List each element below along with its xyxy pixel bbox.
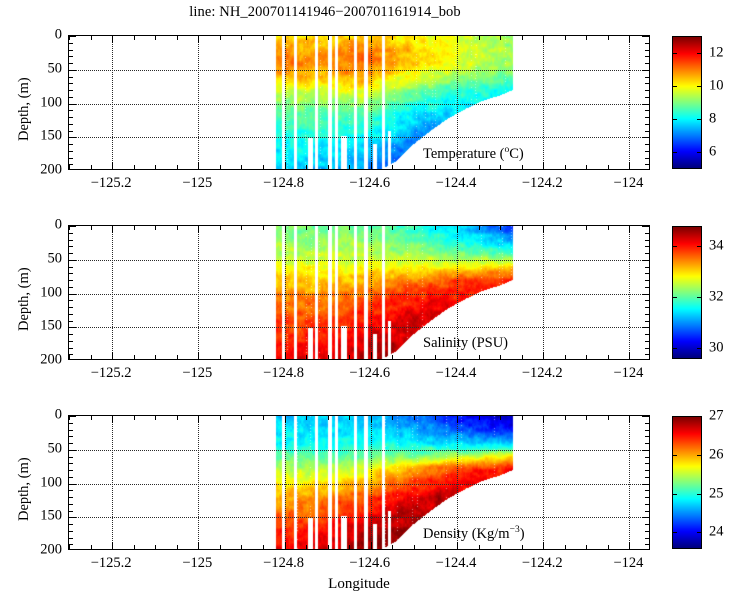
x-tick (392, 416, 393, 420)
x-tick (435, 165, 436, 169)
x-gridline (543, 226, 544, 359)
colorbar-temperature (672, 36, 702, 169)
x-tick-label: −125 (182, 365, 212, 382)
x-tick (349, 545, 350, 549)
x-gridline (371, 36, 372, 169)
x-tick (435, 416, 436, 420)
x-gridline (198, 226, 199, 359)
x-tick (69, 165, 70, 169)
x-tick (241, 165, 242, 169)
x-gridline (371, 416, 372, 549)
x-tick (328, 545, 329, 549)
y-tick (69, 436, 73, 437)
x-tick (198, 226, 199, 233)
x-tick (306, 545, 307, 549)
x-tick (565, 355, 566, 359)
y-tick (645, 457, 649, 458)
y-tick (645, 300, 649, 301)
y-tick (69, 137, 76, 138)
y-tick-label: 200 (14, 162, 62, 179)
y-tick (645, 538, 649, 539)
x-tick (543, 36, 544, 43)
x-tick (414, 355, 415, 359)
oceanographic-transect-figure: line: NH_200701141946−200701161914_bob T… (0, 0, 750, 605)
x-tick (306, 36, 307, 40)
x-tick (69, 355, 70, 359)
y-tick (69, 273, 73, 274)
x-tick (586, 226, 587, 230)
x-tick (629, 542, 630, 549)
y-tick (69, 144, 73, 145)
y-tick (642, 260, 649, 261)
y-tick (69, 56, 73, 57)
x-tick (177, 36, 178, 40)
plot-frame-temperature (68, 35, 650, 170)
x-tick-label: −124.6 (349, 365, 390, 382)
y-tick (69, 226, 76, 227)
y-tick-label: 50 (14, 250, 62, 267)
y-axis-label: Depth, (m) (16, 457, 33, 521)
x-gridline (543, 416, 544, 549)
x-tick (414, 545, 415, 549)
x-tick-label: −124.4 (436, 365, 477, 382)
y-tick (642, 450, 649, 451)
y-tick (69, 90, 73, 91)
y-tick (69, 260, 76, 261)
x-tick (586, 416, 587, 420)
y-tick (69, 70, 76, 71)
y-tick (645, 334, 649, 335)
y-tick (645, 124, 649, 125)
panel-salinity: Salinity (PSU) (68, 225, 650, 360)
x-tick (522, 226, 523, 230)
colorbar-tick (672, 494, 677, 495)
y-tick (69, 267, 73, 268)
y-axis-label: Depth, (m) (16, 267, 33, 331)
x-tick (435, 36, 436, 40)
x-tick (328, 416, 329, 420)
colorbar-tick-label: 8 (709, 110, 716, 127)
colorbar-tick (672, 86, 677, 87)
colorbar-tick (672, 455, 677, 456)
x-tick (241, 355, 242, 359)
colorbar-tick (672, 246, 677, 247)
x-tick (629, 162, 630, 169)
x-gridline (198, 416, 199, 549)
x-tick (134, 355, 135, 359)
y-tick-label: 200 (14, 542, 62, 559)
y-tick (69, 341, 73, 342)
y-tick (645, 287, 649, 288)
x-tick (263, 226, 264, 230)
panel-annotation-temperature: Temperature (oC) (423, 145, 524, 163)
y-tick (645, 490, 649, 491)
y-tick (69, 124, 73, 125)
x-tick-label: −125 (182, 175, 212, 192)
y-gridline (69, 104, 649, 105)
y-tick (69, 110, 73, 111)
x-tick (522, 545, 523, 549)
x-tick (241, 226, 242, 230)
colorbar-tick (697, 246, 702, 247)
y-tick (645, 273, 649, 274)
y-tick (645, 77, 649, 78)
x-tick (91, 355, 92, 359)
y-tick (69, 457, 73, 458)
x-tick (285, 416, 286, 423)
x-tick (522, 416, 523, 420)
y-tick (645, 511, 649, 512)
y-tick (69, 164, 73, 165)
y-tick (645, 233, 649, 234)
x-tick (263, 416, 264, 420)
x-tick (392, 226, 393, 230)
plot-frame-density (68, 415, 650, 550)
y-tick (69, 314, 73, 315)
y-tick-label: 0 (14, 27, 62, 44)
x-tick (177, 165, 178, 169)
x-tick (629, 352, 630, 359)
x-tick-label: −124.8 (263, 365, 304, 382)
y-tick (645, 314, 649, 315)
y-tick (69, 151, 73, 152)
y-tick (69, 246, 73, 247)
x-tick (134, 165, 135, 169)
y-tick (69, 531, 73, 532)
x-tick (177, 416, 178, 420)
y-tick (645, 470, 649, 471)
x-tick (479, 545, 480, 549)
x-tick (349, 355, 350, 359)
y-tick (645, 50, 649, 51)
x-tick (371, 542, 372, 549)
y-tick (645, 131, 649, 132)
y-tick (645, 240, 649, 241)
x-tick (155, 226, 156, 230)
x-tick (285, 352, 286, 359)
x-gridline (543, 36, 544, 169)
y-tick (645, 524, 649, 525)
panel-temperature: Temperature (oC) (68, 35, 650, 170)
x-tick (371, 352, 372, 359)
y-tick (69, 470, 73, 471)
y-tick-label: 50 (14, 60, 62, 77)
x-tick (134, 226, 135, 230)
y-gridline (69, 517, 649, 518)
x-tick (241, 416, 242, 420)
y-tick (645, 267, 649, 268)
colorbar-tick (697, 348, 702, 349)
y-gridline (69, 450, 649, 451)
x-tick (479, 355, 480, 359)
x-tick (112, 416, 113, 423)
y-tick (645, 321, 649, 322)
x-tick (543, 542, 544, 549)
x-tick (414, 165, 415, 169)
x-tick (306, 355, 307, 359)
x-tick (91, 226, 92, 230)
colorbar-tick-label: 6 (709, 143, 716, 160)
y-tick (69, 430, 73, 431)
x-tick-label: −124.8 (263, 555, 304, 572)
x-tick (306, 416, 307, 420)
x-tick (263, 165, 264, 169)
x-tick (177, 355, 178, 359)
y-tick (645, 544, 649, 545)
x-tick (263, 545, 264, 549)
colorbar-tick (672, 348, 677, 349)
x-tick (392, 545, 393, 549)
colorbar-tick (697, 119, 702, 120)
colorbar-tick (697, 416, 702, 417)
x-tick (134, 416, 135, 420)
y-tick (642, 104, 649, 105)
x-tick (328, 36, 329, 40)
x-tick-label: −124 (613, 365, 643, 382)
x-tick (414, 226, 415, 230)
x-tick (112, 542, 113, 549)
y-tick (69, 484, 76, 485)
y-tick (645, 63, 649, 64)
x-tick (198, 416, 199, 423)
annotation-superscript: −3 (510, 525, 520, 535)
x-tick (457, 36, 458, 43)
x-tick-label: −125.2 (91, 555, 132, 572)
x-tick (112, 36, 113, 43)
x-tick-label: −124.4 (436, 175, 477, 192)
y-tick (69, 280, 73, 281)
y-tick (69, 477, 73, 478)
x-tick (522, 36, 523, 40)
y-tick (69, 327, 76, 328)
x-tick (285, 542, 286, 549)
x-tick (177, 545, 178, 549)
x-tick (220, 355, 221, 359)
x-gridline (112, 226, 113, 359)
colorbar-tick-label: 10 (709, 77, 724, 94)
x-tick (155, 165, 156, 169)
y-tick (645, 164, 649, 165)
x-tick (457, 416, 458, 423)
x-tick (565, 165, 566, 169)
x-gridline (112, 416, 113, 549)
x-tick-label: −124.2 (522, 555, 563, 572)
x-tick (457, 542, 458, 549)
colorbar-tick-label: 30 (709, 339, 724, 356)
x-tick (241, 36, 242, 40)
y-tick (645, 246, 649, 247)
x-tick (371, 162, 372, 169)
y-tick (69, 416, 76, 417)
colorbar-tick (697, 494, 702, 495)
y-tick-label: 200 (14, 352, 62, 369)
y-tick (645, 280, 649, 281)
x-tick (565, 416, 566, 420)
y-tick (645, 354, 649, 355)
y-tick (69, 300, 73, 301)
x-tick (241, 545, 242, 549)
x-tick (112, 162, 113, 169)
figure-title: line: NH_200701141946−200701161914_bob (0, 4, 650, 21)
y-tick (69, 524, 73, 525)
x-tick (198, 352, 199, 359)
x-tick (608, 355, 609, 359)
colorbar-tick-label: 27 (709, 408, 724, 425)
x-gridline (198, 36, 199, 169)
y-tick (69, 240, 73, 241)
x-tick (349, 226, 350, 230)
x-tick (479, 165, 480, 169)
x-tick (608, 36, 609, 40)
x-tick (457, 226, 458, 233)
x-tick (112, 352, 113, 359)
x-tick (629, 226, 630, 233)
x-gridline (629, 416, 630, 549)
x-tick (69, 545, 70, 549)
x-tick (392, 165, 393, 169)
y-tick (645, 341, 649, 342)
y-tick (69, 287, 73, 288)
x-tick (198, 542, 199, 549)
x-tick (479, 36, 480, 40)
x-tick (500, 36, 501, 40)
y-tick (69, 83, 73, 84)
y-tick (69, 443, 73, 444)
y-tick (645, 423, 649, 424)
x-tick (328, 355, 329, 359)
x-tick (328, 165, 329, 169)
y-tick (645, 117, 649, 118)
colorbar-tick (672, 532, 677, 533)
x-tick (608, 226, 609, 230)
y-tick-label: 50 (14, 440, 62, 457)
x-tick (220, 545, 221, 549)
y-tick (69, 104, 76, 105)
x-tick (91, 165, 92, 169)
colorbar-tick-label: 25 (709, 485, 724, 502)
x-tick (500, 226, 501, 230)
x-tick (220, 226, 221, 230)
colorbar-density (672, 416, 702, 549)
x-tick (479, 416, 480, 420)
x-tick (500, 355, 501, 359)
y-tick (642, 484, 649, 485)
x-tick (155, 416, 156, 420)
x-gridline (371, 226, 372, 359)
y-tick (645, 307, 649, 308)
y-tick (645, 430, 649, 431)
x-tick (285, 36, 286, 43)
x-tick-label: −125.2 (91, 365, 132, 382)
y-tick (69, 63, 73, 64)
x-axis-label: Longitude (68, 576, 650, 593)
colorbar-tick-label: 12 (709, 44, 724, 61)
x-tick (457, 162, 458, 169)
x-tick-label: −124.6 (349, 175, 390, 192)
panel-annotation-density: Density (Kg/m−3) (423, 525, 525, 543)
y-gridline (69, 294, 649, 295)
x-tick-label: −125.2 (91, 175, 132, 192)
colorbar-tick (697, 455, 702, 456)
y-tick (645, 56, 649, 57)
x-tick (608, 165, 609, 169)
x-tick-label: −124.8 (263, 175, 304, 192)
x-tick (608, 545, 609, 549)
x-tick (543, 416, 544, 423)
x-tick (500, 416, 501, 420)
x-gridline (285, 36, 286, 169)
x-tick (392, 36, 393, 40)
x-tick-label: −124.2 (522, 175, 563, 192)
y-tick (642, 226, 649, 227)
y-tick (69, 43, 73, 44)
x-tick (198, 162, 199, 169)
y-tick (645, 497, 649, 498)
y-tick (645, 348, 649, 349)
colorbar-tick-label: 26 (709, 446, 724, 463)
y-tick (645, 463, 649, 464)
x-tick (155, 355, 156, 359)
colorbar-tick (697, 152, 702, 153)
x-tick (414, 36, 415, 40)
y-tick (69, 294, 76, 295)
y-tick (69, 463, 73, 464)
x-tick-label: −124.4 (436, 555, 477, 572)
colorbar-tick (672, 297, 677, 298)
y-gridline (69, 260, 649, 261)
y-gridline (69, 70, 649, 71)
x-tick-label: −124.2 (522, 365, 563, 382)
panel-annotation-salinity: Salinity (PSU) (423, 335, 508, 352)
x-tick (134, 545, 135, 549)
y-tick (645, 443, 649, 444)
y-tick (645, 531, 649, 532)
x-tick-label: −124.6 (349, 555, 390, 572)
x-tick (349, 416, 350, 420)
y-tick (645, 151, 649, 152)
x-tick (543, 162, 544, 169)
x-tick (349, 165, 350, 169)
x-tick (177, 226, 178, 230)
y-tick (645, 504, 649, 505)
y-tick (69, 497, 73, 498)
y-tick (69, 233, 73, 234)
colorbar-tick-label: 24 (709, 524, 724, 541)
y-tick (69, 321, 73, 322)
y-tick (642, 70, 649, 71)
x-tick (565, 545, 566, 549)
x-tick (263, 355, 264, 359)
y-gridline (69, 327, 649, 328)
x-gridline (285, 226, 286, 359)
x-gridline (629, 36, 630, 169)
y-tick (69, 334, 73, 335)
x-tick-label: −124 (613, 175, 643, 192)
colorbar-tick (672, 416, 677, 417)
y-tick (69, 354, 73, 355)
y-tick (69, 77, 73, 78)
y-tick (69, 117, 73, 118)
x-tick (457, 352, 458, 359)
x-tick (371, 226, 372, 233)
y-gridline (69, 484, 649, 485)
y-tick (642, 416, 649, 417)
y-tick (645, 144, 649, 145)
x-tick (586, 36, 587, 40)
x-tick (435, 355, 436, 359)
x-tick (371, 416, 372, 423)
colorbar-tick (697, 86, 702, 87)
